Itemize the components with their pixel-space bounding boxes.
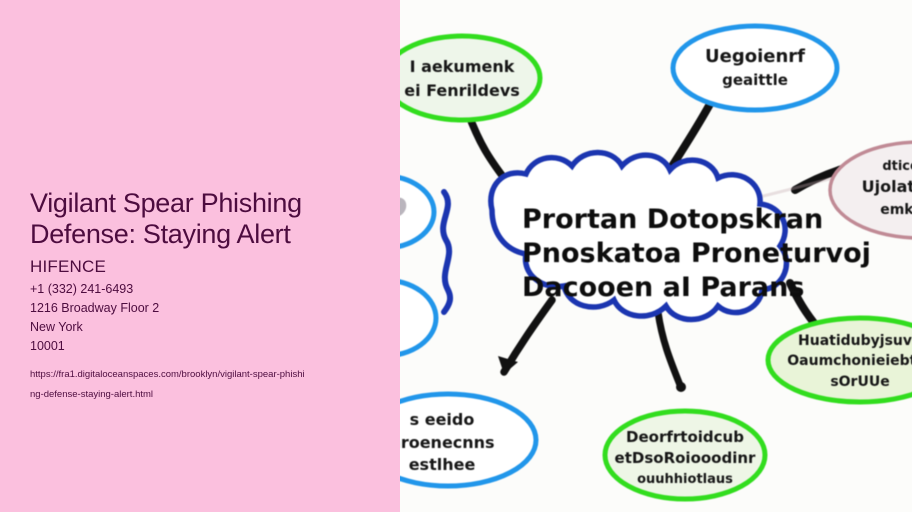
node-bottom-center-green-line-3: ouuhhiotlaus [637, 472, 733, 487]
node-bottom-left-blue-line-3: estlhee [409, 455, 476, 474]
contact-phone: +1 (332) 241-6493 [30, 280, 375, 299]
source-url-line-1: https://fra1.digitaloceanspaces.com/broo… [30, 369, 305, 380]
left-panel-content: Vigilant Spear Phishing Defense: Staying… [30, 188, 375, 406]
node-bottom-left-blue-line-1: s eeido [410, 410, 475, 429]
source-url-line-2: ng-defense-staying-alert.html [30, 389, 153, 400]
center-cloud-line-1: Prortan Dotopskran [522, 204, 823, 235]
node-right-mauve-line-2: Ujolatgiel [862, 177, 912, 196]
mindmap-illustration: Prortan Dotopskran Pnoskatoa Proneturvoj… [400, 0, 912, 512]
node-bottom-center-green-line-1: Deorfrtoidcub [626, 428, 744, 446]
node-top-left-green-outline [400, 36, 540, 120]
contact-address-city: New York [30, 318, 375, 337]
node-bottom-right-green: Huatidubyjsuvu Oaumchonieiebter sOrUUe [768, 318, 912, 402]
node-top-right-blue: Uegoienrf geaittle [673, 26, 837, 110]
node-bottom-center-green-line-2: etDsoRoiooodinr [615, 449, 756, 467]
brand-name: HIFENCE [30, 257, 375, 277]
node-top-left-green-line-2: ei Fenrildevs [404, 81, 520, 100]
node-top-right-blue-line-1: Uegoienrf [705, 46, 805, 67]
node-bottom-left-blue-line-2: nroenecnns [400, 433, 495, 452]
source-url: https://fra1.digitaloceanspaces.com/broo… [30, 365, 375, 407]
connector-dot-bottom-center [676, 382, 686, 392]
contact-address-zip: 10001 [30, 337, 375, 356]
node-top-right-blue-line-2: geaittle [722, 71, 788, 89]
node-right-mauve-line-3: emkUi [880, 202, 912, 218]
center-cloud-line-2: Pnoskatoa Proneturvoj [522, 238, 871, 269]
node-top-right-blue-outline [673, 26, 837, 110]
center-cloud-line-3: Dacooen aI Parans [522, 272, 804, 303]
node-top-left-green: I aekumenk ei Fenrildevs [400, 36, 540, 120]
node-bottom-center-green: Deorfrtoidcub etDsoRoiooodinr ouuhhiotla… [605, 411, 765, 499]
left-info-panel: Vigilant Spear Phishing Defense: Staying… [0, 0, 400, 512]
node-bottom-right-green-line-1: Huatidubyjsuvu [798, 333, 912, 349]
node-right-mauve-line-1: dticee [882, 159, 912, 174]
node-bottom-right-green-line-3: sOrUUe [830, 374, 889, 390]
node-bottom-right-green-line-2: Oaumchonieiebter [787, 353, 912, 369]
social-share-card: Vigilant Spear Phishing Defense: Staying… [0, 0, 912, 512]
node-top-left-green-line-1: I aekumenk [410, 57, 515, 76]
mindmap-svg: Prortan Dotopskran Pnoskatoa Proneturvoj… [400, 0, 912, 512]
contact-address-street: 1216 Broadway Floor 2 [30, 299, 375, 318]
page-title: Vigilant Spear Phishing Defense: Staying… [30, 188, 375, 250]
node-bottom-left-blue: s eeido nroenecnns estlhee [400, 394, 536, 486]
